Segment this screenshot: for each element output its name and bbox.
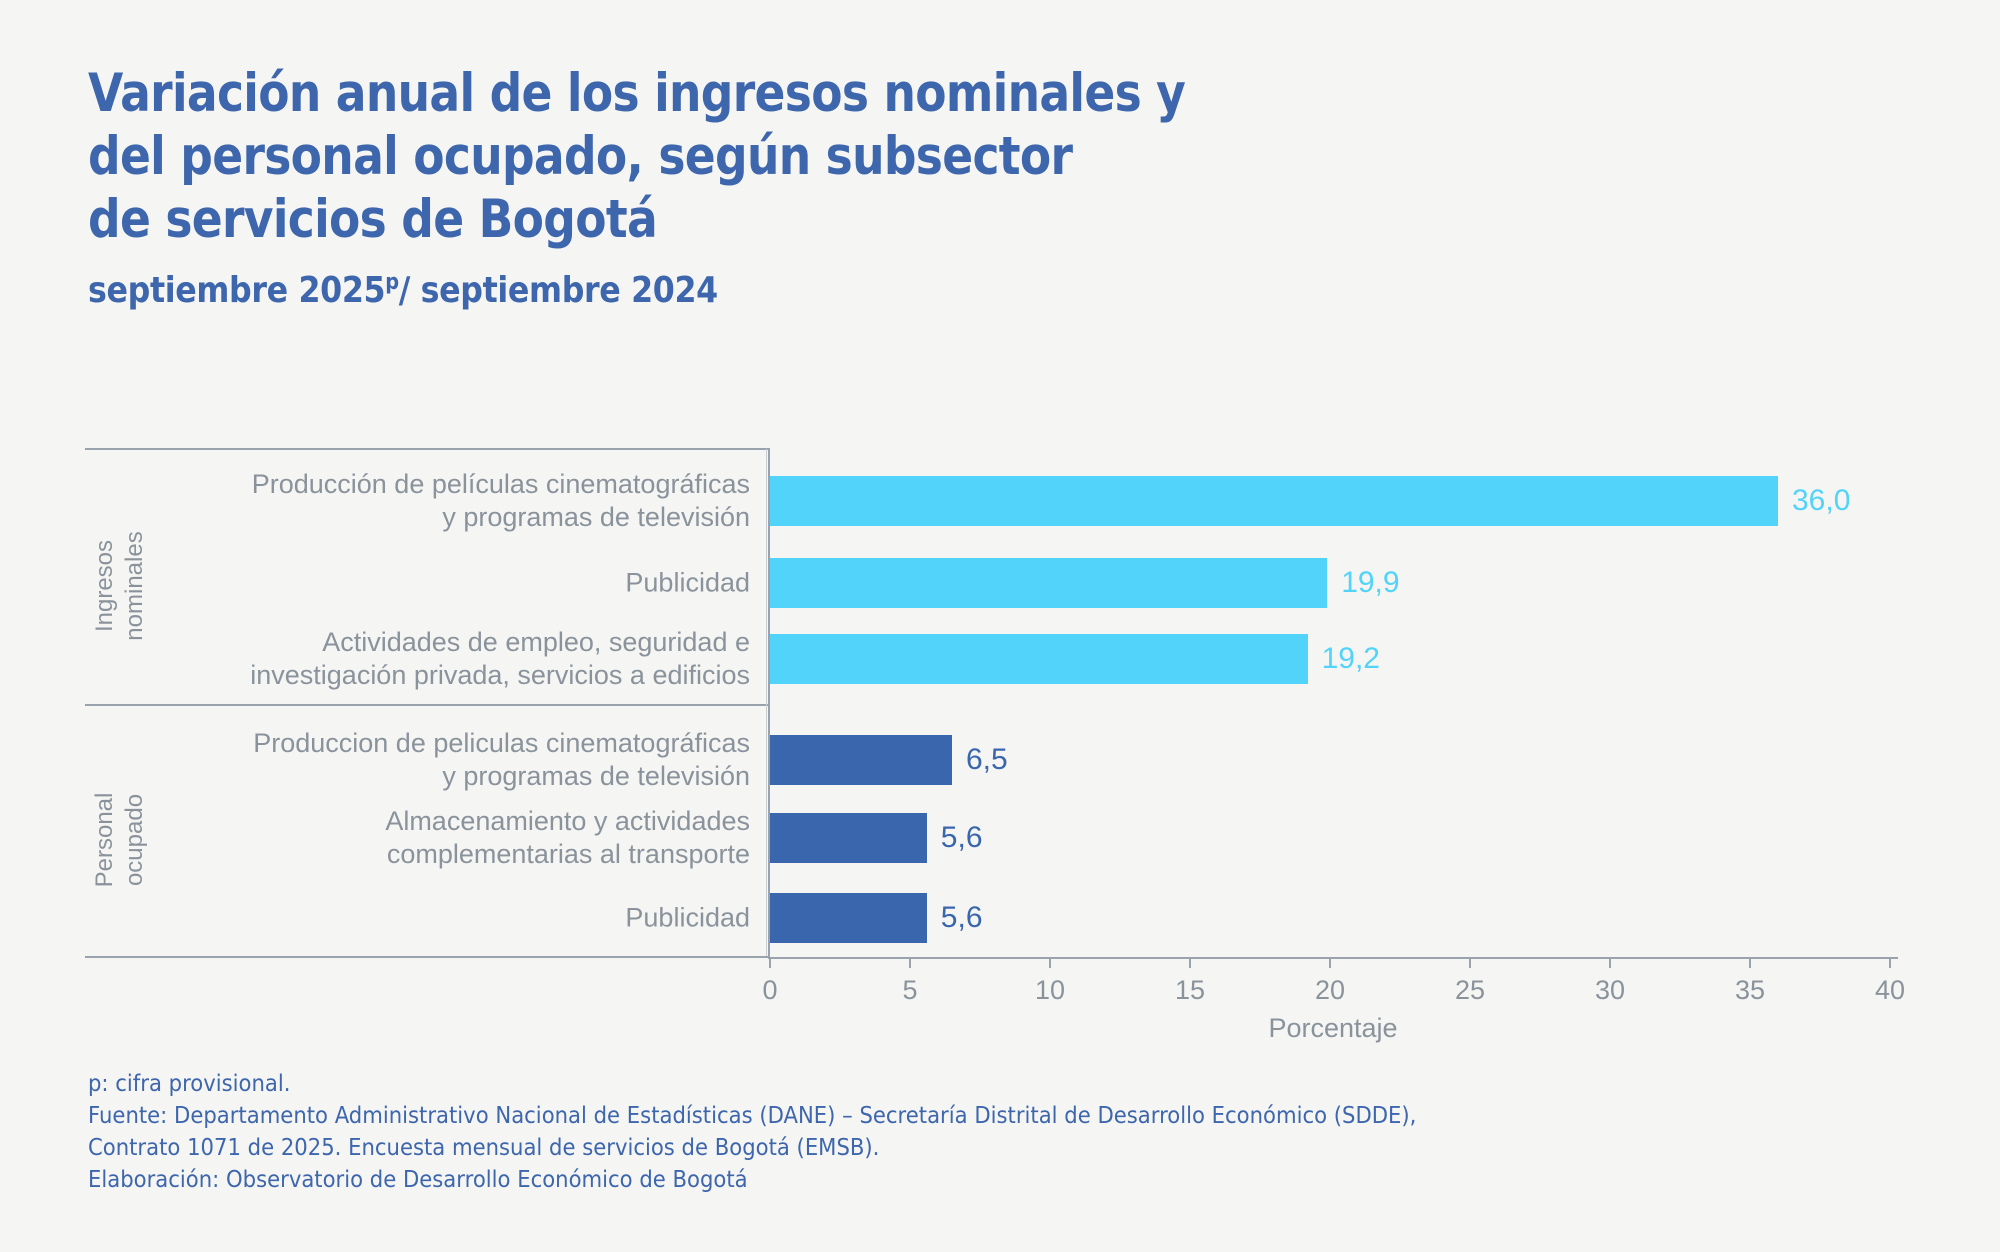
- footnote-source-line-2: Contrato 1071 de 2025. Encuesta mensual …: [88, 1132, 1416, 1164]
- group-label: Personalocupado: [90, 750, 150, 930]
- bar[interactable]: [770, 813, 927, 863]
- x-axis-tick-label: 5: [902, 975, 917, 1006]
- x-axis-tick: [769, 957, 771, 968]
- group-label-line: ocupado: [120, 750, 150, 930]
- x-axis-tick-label: 40: [1875, 975, 1905, 1006]
- x-axis-tick-label: 20: [1315, 975, 1345, 1006]
- footnote-elaboration: Elaboración: Observatorio de Desarrollo …: [88, 1164, 1416, 1196]
- x-axis-tick-label: 15: [1175, 975, 1205, 1006]
- group-label-line: Personal: [90, 750, 120, 930]
- bar-value-label: 19,2: [1322, 642, 1380, 676]
- chart-canvas: Variación anual de los ingresos nominale…: [0, 0, 2000, 1252]
- category-label-line: Publicidad: [168, 902, 750, 935]
- category-label: Almacenamiento y actividadescomplementar…: [168, 805, 768, 871]
- bar-value-label: 6,5: [966, 743, 1008, 777]
- bar-value-label: 5,6: [941, 901, 983, 935]
- category-label: Produccion de peliculas cinematográficas…: [168, 727, 768, 793]
- bar[interactable]: [770, 476, 1778, 526]
- category-label-line: Produccion de peliculas cinematográficas: [168, 727, 750, 760]
- category-label-line: investigación privada, servicios a edifi…: [168, 659, 750, 692]
- bar-value-label: 5,6: [941, 821, 983, 855]
- group-rule-top: [85, 448, 770, 450]
- bar[interactable]: [770, 634, 1308, 684]
- footnotes-block: p: cifra provisional. Fuente: Departamen…: [88, 1068, 1416, 1196]
- bar[interactable]: [770, 893, 927, 943]
- x-axis-tick: [1749, 957, 1751, 968]
- x-axis-tick: [909, 957, 911, 968]
- category-label: Publicidad: [168, 902, 768, 935]
- group-label-line: nominales: [120, 496, 150, 676]
- group-label: Ingresosnominales: [90, 496, 150, 676]
- x-axis-tick: [1189, 957, 1191, 968]
- category-label-line: Actividades de empleo, seguridad e: [168, 626, 750, 659]
- x-axis-tick: [1609, 957, 1611, 968]
- bar[interactable]: [770, 735, 952, 785]
- x-axis-tick: [1329, 957, 1331, 968]
- x-axis-tick-label: 35: [1735, 975, 1765, 1006]
- x-axis-tick-label: 30: [1595, 975, 1625, 1006]
- x-axis-tick: [1049, 957, 1051, 968]
- x-axis-tick: [1469, 957, 1471, 968]
- category-label-line: y programas de televisión: [168, 501, 750, 534]
- x-axis-line: [768, 957, 1898, 959]
- footnote-source-line-1: Fuente: Departamento Administrativo Naci…: [88, 1100, 1416, 1132]
- category-label: Publicidad: [168, 567, 768, 600]
- x-axis-tick-label: 25: [1455, 975, 1485, 1006]
- x-axis-tick: [1889, 957, 1891, 968]
- plot-area: Porcentaje 051015202530354036,0Producció…: [0, 0, 2000, 1252]
- category-label: Actividades de empleo, seguridad einvest…: [168, 626, 768, 692]
- category-label-line: Producción de películas cinematográficas: [168, 468, 750, 501]
- bar[interactable]: [770, 558, 1327, 608]
- category-label-line: Almacenamiento y actividades: [168, 805, 750, 838]
- category-label: Producción de películas cinematográficas…: [168, 468, 768, 534]
- group-rule-bottom: [85, 956, 770, 958]
- bar-value-label: 36,0: [1792, 484, 1850, 518]
- footnote-provisional: p: cifra provisional.: [88, 1068, 1416, 1100]
- x-axis-tick-label: 10: [1035, 975, 1065, 1006]
- x-axis-title: Porcentaje: [768, 1013, 1898, 1044]
- x-axis-tick-label: 0: [762, 975, 777, 1006]
- group-label-line: Ingresos: [90, 496, 120, 676]
- category-label-line: y programas de televisión: [168, 760, 750, 793]
- group-rule-middle: [85, 704, 770, 706]
- bar-value-label: 19,9: [1341, 566, 1399, 600]
- category-label-line: Publicidad: [168, 567, 750, 600]
- category-label-line: complementarias al transporte: [168, 838, 750, 871]
